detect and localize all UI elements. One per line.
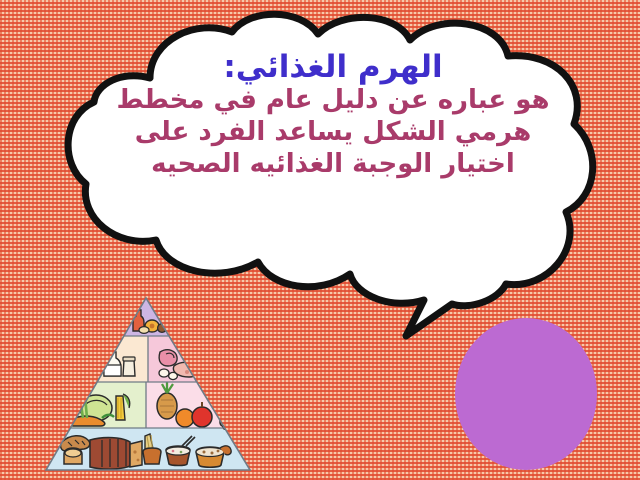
tier-meat-icons [159,350,205,380]
food-pyramid-illustration [40,294,256,474]
slide-canvas: الهرم الغذائي: هو عباره عن دليل عام في م… [0,0,640,480]
